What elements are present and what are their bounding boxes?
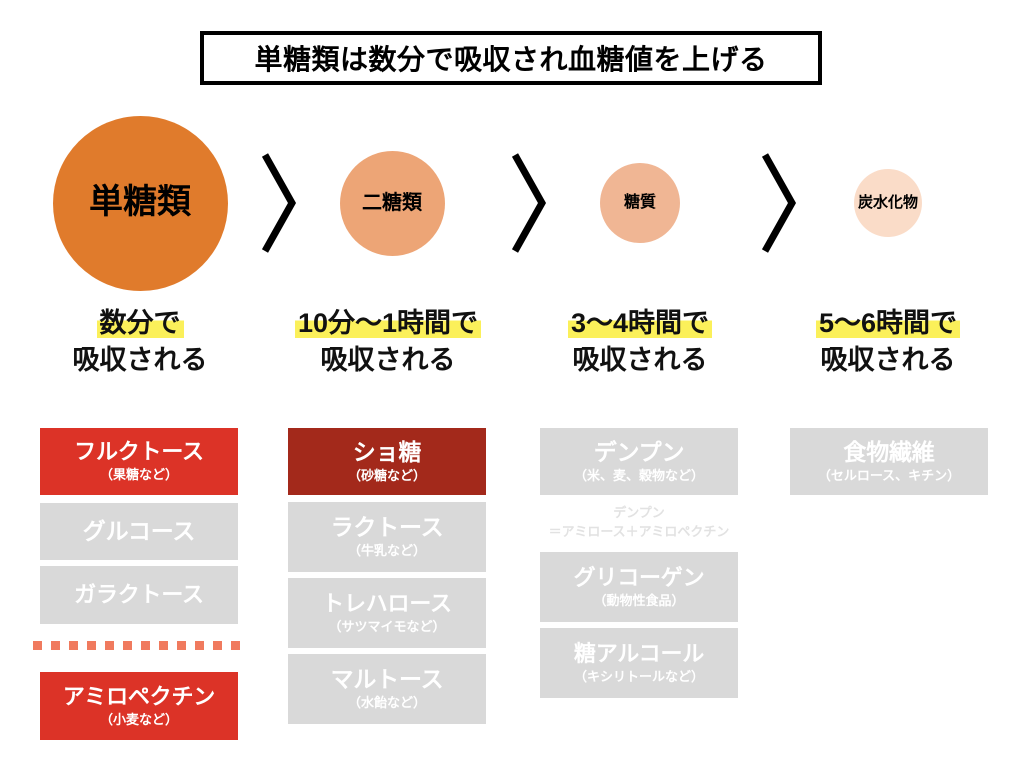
timing-absorbed-text: 吸収される [764, 343, 1012, 379]
flow-circle-2: 二糖類 [340, 151, 445, 256]
timing-duration: 数分で [16, 306, 264, 342]
timing-duration: 5〜6時間で [764, 306, 1012, 342]
card-item: グルコース [40, 503, 238, 560]
card-subtitle: （セルロース、キチン） [818, 468, 960, 484]
card-title: ショ糖 [353, 440, 421, 466]
card-subtitle: （サツマイモなど） [328, 619, 445, 635]
flow-circle-label: 単糖類 [89, 184, 191, 221]
flow-circle-label: 二糖類 [362, 192, 422, 214]
card-subtitle: （動物性食品） [593, 593, 684, 609]
card-item: マルトース（水飴など） [288, 654, 486, 724]
highlight-mark: 10分〜1時間で [295, 308, 481, 338]
timing-absorbed-text: 吸収される [516, 343, 764, 379]
timing-duration: 10分〜1時間で [264, 306, 512, 342]
highlight-mark: 5〜6時間で [816, 308, 960, 338]
card-title: フルクトース [74, 440, 204, 465]
card-title: 糖アルコール [574, 642, 704, 667]
flow-circle-1: 単糖類 [53, 116, 228, 291]
sugar-hierarchy-flow: 単糖類二糖類糖質炭水化物 [0, 103, 1024, 303]
card-item: トレハロース（サツマイモなど） [288, 578, 486, 648]
flow-circle-label: 糖質 [624, 194, 656, 212]
card-title: ラクトース [331, 515, 444, 541]
dashed-divider [33, 641, 245, 650]
card-item: ショ糖（砂糖など） [288, 428, 486, 495]
timing-duration: 3〜4時間で [516, 306, 764, 342]
card-title: トレハロース [322, 592, 452, 617]
starch-composition-note: デンプン ＝アミロース＋アミロペクチン [540, 504, 738, 542]
card-title: デンプン [594, 440, 685, 466]
card-title: アミロペクチン [63, 685, 215, 710]
card-item: アミロペクチン（小麦など） [40, 672, 238, 740]
chevron-right-icon [258, 150, 300, 256]
page-title: 単糖類は数分で吸収され血糖値を上げる [254, 38, 767, 78]
card-subtitle: （牛乳など） [348, 543, 426, 559]
card-title: マルトース [331, 667, 444, 693]
highlight-mark: 数分で [97, 308, 184, 338]
card-title: ガラクトース [74, 583, 204, 608]
card-title: グルコース [83, 519, 195, 545]
chevron-right-icon [508, 150, 550, 256]
card-item: 糖アルコール（キシリトールなど） [540, 628, 738, 698]
card-title: 食物繊維 [843, 440, 934, 466]
card-item: グリコーゲン（動物性食品） [540, 552, 738, 622]
timing-label-column-4: 5〜6時間で吸収される [764, 306, 1012, 379]
flow-circle-3: 糖質 [600, 163, 680, 243]
card-subtitle: （果糖など） [100, 467, 178, 483]
title-box: 単糖類は数分で吸収され血糖値を上げる [200, 31, 822, 85]
card-item: デンプン（米、麦、穀物など） [540, 428, 738, 495]
card-subtitle: （砂糖など） [348, 468, 426, 484]
flow-circle-label: 炭水化物 [858, 195, 918, 212]
flow-circle-4: 炭水化物 [854, 169, 922, 237]
card-title: グリコーゲン [574, 566, 705, 591]
timing-label-column-1: 数分で吸収される [16, 306, 264, 379]
starch-note-line-2: ＝アミロース＋アミロペクチン [540, 523, 738, 542]
starch-note-line-1: デンプン [540, 504, 738, 523]
card-item: 食物繊維（セルロース、キチン） [790, 428, 988, 495]
card-item: ガラクトース [40, 566, 238, 624]
timing-label-column-2: 10分〜1時間で吸収される [264, 306, 512, 379]
chevron-right-icon [758, 150, 800, 256]
card-item: ラクトース（牛乳など） [288, 502, 486, 572]
card-item: フルクトース（果糖など） [40, 428, 238, 495]
timing-absorbed-text: 吸収される [264, 343, 512, 379]
card-subtitle: （米、麦、穀物など） [574, 468, 704, 484]
card-subtitle: （キシリトールなど） [574, 669, 704, 685]
highlight-mark: 3〜4時間で [568, 308, 712, 338]
timing-absorbed-text: 吸収される [16, 343, 264, 379]
card-subtitle: （水飴など） [348, 695, 426, 711]
card-subtitle: （小麦など） [100, 712, 178, 728]
timing-label-column-3: 3〜4時間で吸収される [516, 306, 764, 379]
